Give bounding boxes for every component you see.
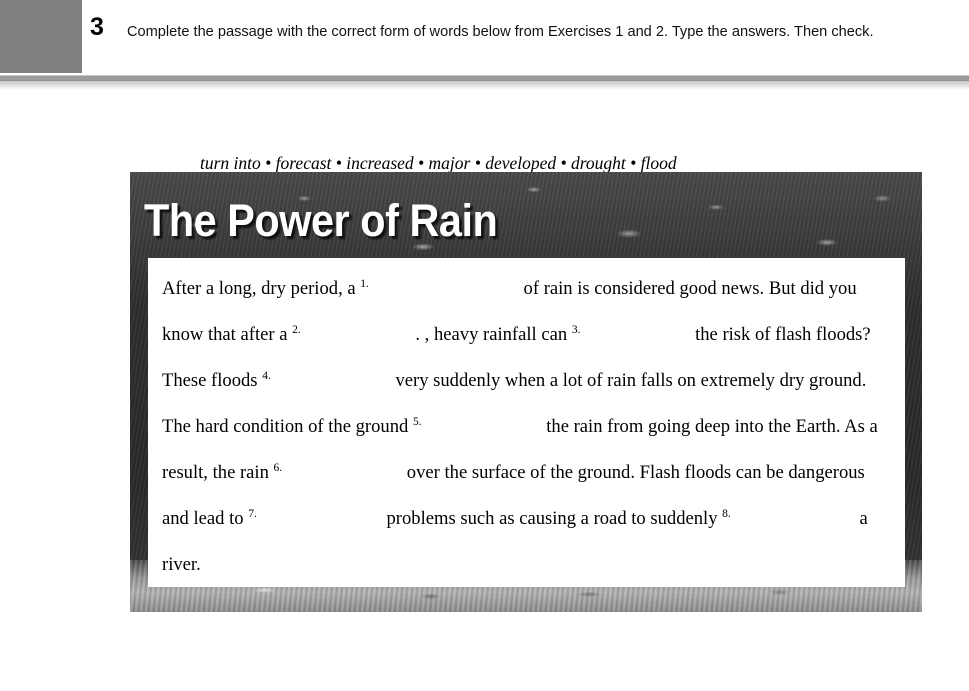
exercise-instruction: Complete the passage with the correct fo… [127,22,917,43]
answer-blank-1[interactable] [369,266,519,312]
blank-number-7: 7. [248,508,257,520]
passage-segment: problems such as causing a road to sudde… [382,508,722,529]
answer-blank-6[interactable] [282,450,402,496]
exercise-number: 3 [90,13,103,42]
passage-text: After a long, dry period, a 1. of rain i… [162,266,892,588]
passage-title: The Power of Rain [144,195,497,247]
blank-number-5: 5. [413,416,422,428]
answer-blank-8[interactable] [731,496,855,542]
answer-blank-5[interactable] [422,404,542,450]
rain-photo-banner: The Power of Rain After a long, dry peri… [130,172,922,612]
answer-blank-2[interactable] [301,312,411,358]
blank-number-4: 4. [262,370,271,382]
passage-box: After a long, dry period, a 1. of rain i… [148,258,905,587]
blank-number-3: 3. [572,324,581,336]
answer-blank-3[interactable] [580,312,690,358]
header-grey-block [0,0,82,73]
blank-number-8: 8. [722,508,731,520]
blank-number-1: 1. [360,278,369,290]
blank-number-6: 6. [274,462,283,474]
answer-blank-4[interactable] [271,358,391,404]
blank-number-2: 2. [292,324,301,336]
header-divider-shadow [0,80,969,90]
answer-blank-7[interactable] [257,496,382,542]
passage-segment: . , heavy rainfall can [411,324,572,345]
passage-segment: After a long, dry period, a [162,278,360,299]
exercise-header: 3 Complete the passage with the correct … [0,0,969,74]
